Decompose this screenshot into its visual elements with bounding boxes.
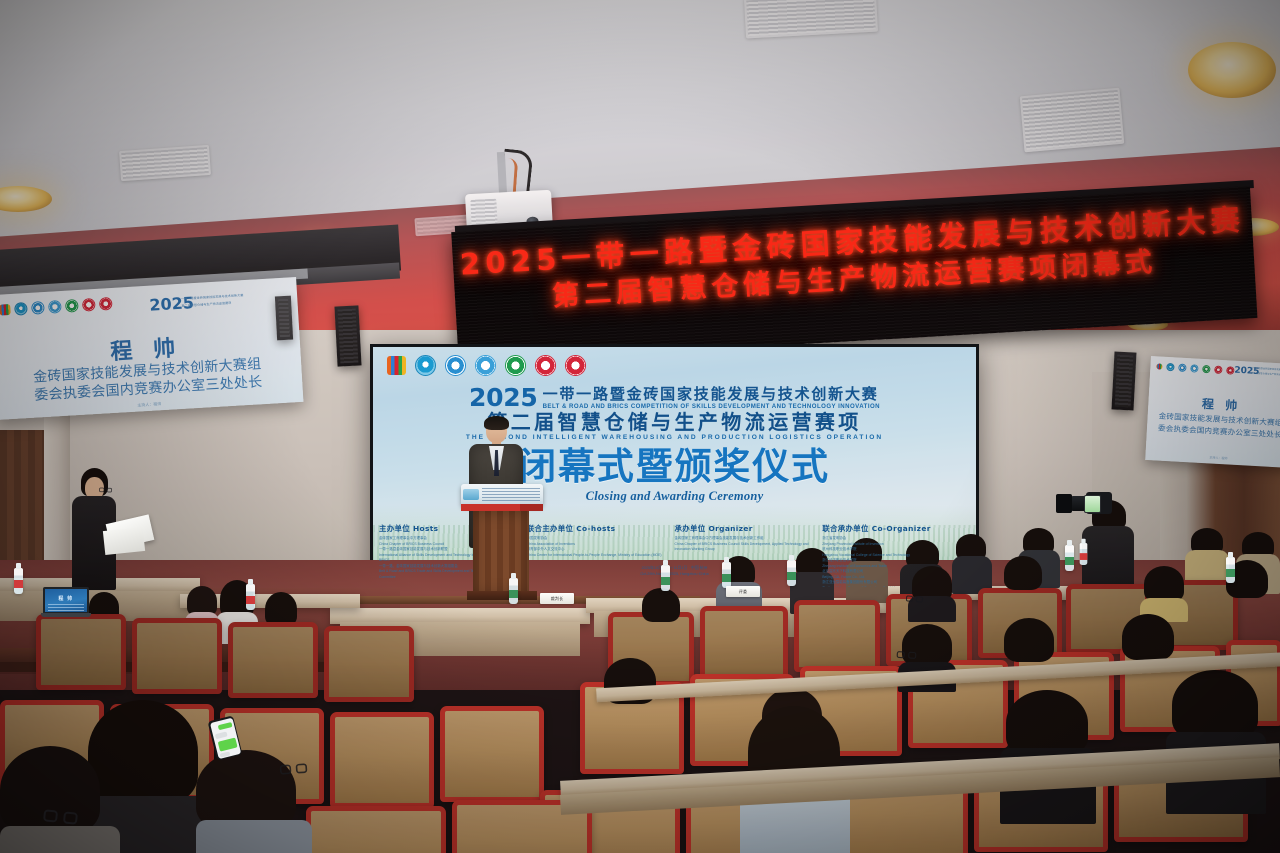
speaker-hair [484, 416, 509, 430]
audience-person [600, 658, 660, 710]
organizer-heading: 联合主办单位 Co-hosts [527, 523, 670, 534]
camera-flip-screen [1084, 495, 1101, 513]
name-card: 评委 [726, 586, 760, 597]
auditorium-seat[interactable] [700, 606, 788, 680]
right-screen-event-line-2: 第二届智慧仓储与生产物流运营赛项 [1251, 373, 1280, 378]
podium-red-band [461, 504, 543, 511]
camera-lens-hood [1056, 494, 1072, 513]
ceremony-title-cn: 闭幕式暨颁奖仪式 [373, 447, 976, 488]
podium-body [473, 511, 529, 596]
laptop: 程 帅 [43, 587, 89, 617]
person-hair [1144, 566, 1184, 602]
wall-speaker [275, 296, 293, 341]
audience-person [1140, 566, 1188, 610]
red-seal-logo-icon [535, 355, 556, 376]
main-projection-screen: 2025 一带一路暨金砖国家技能发展与技术创新大赛 BELT & ROAD AN… [370, 344, 979, 590]
person-hair [902, 624, 952, 666]
water-bottle [787, 560, 796, 586]
person-hair [1004, 556, 1042, 590]
alliance-logo-icon [14, 302, 28, 316]
attendant-glasses-icon [99, 488, 112, 493]
held-papers [103, 527, 145, 555]
brics-logo-icon [0, 304, 11, 316]
event-en-line-1: BELT & ROAD AND BRICS COMPETITION OF SKI… [543, 403, 880, 410]
skills-logo-icon [1190, 364, 1198, 372]
year-label: 2025 [469, 387, 538, 410]
person-glasses-icon [897, 651, 917, 659]
skills-logo-icon [48, 300, 62, 314]
laptop-screen-textlines [48, 604, 84, 612]
event-date-en: Oct.29th-Nov.1st 2025, Hangzhou·China [373, 571, 976, 577]
red-circle-logo-icon [99, 297, 113, 311]
air-vent-icon [119, 145, 211, 181]
water-bottle [246, 584, 255, 610]
main-screen-content: 2025 一带一路暨金砖国家技能发展与技术创新大赛 BELT & ROAD AN… [373, 347, 976, 587]
name-card-text: 裁判长 [540, 593, 574, 604]
wall-speaker [334, 305, 361, 366]
conference-hall-photo: 2025一带一路暨金砖国家技能发展与技术创新大赛 第二届智慧仓储与生产物流运营赛… [0, 0, 1280, 853]
right-screen-logo-row [1156, 362, 1234, 374]
chat-bubble [214, 731, 227, 739]
organizer-columns: 主办单位 Hosts 金砖国家工商理事会中方理事会 China Chapter … [373, 523, 976, 587]
brics-logo-icon [1156, 363, 1162, 369]
organizer-column: 承办单位 Organizer 金砖国家工商理事会中方理事会技能发展与技术创新工作… [675, 523, 823, 587]
chat-bubble [219, 751, 230, 757]
auditorium-seat[interactable] [306, 806, 446, 853]
wall-speaker [1111, 351, 1136, 410]
person-hair [1172, 670, 1258, 740]
podium-base [467, 591, 537, 600]
right-side-screen: 2025 一带一路暨金砖国家技能发展与技术创新大赛 第二届智慧仓储与生产物流运营… [1145, 356, 1280, 468]
laptop-base [41, 613, 91, 617]
person-hair [1006, 690, 1088, 756]
projector-power-cable [499, 157, 518, 194]
audience-person [1000, 618, 1058, 670]
water-bottle [1226, 557, 1235, 583]
name-card-text: 评委 [726, 586, 760, 597]
event-date-block: 2025年10月29日－11月1日 中国·杭州 Oct.29th-Nov.1st… [373, 565, 976, 577]
auditorium-seat[interactable] [440, 706, 544, 802]
event-en-line-2: THE SECOND INTELLIGENT WAREHOUSING AND P… [373, 434, 976, 441]
water-bottle [14, 568, 23, 594]
red-seal-logo-icon [1214, 366, 1222, 374]
water-bottle [1065, 545, 1074, 571]
podium-logo-icon [463, 489, 479, 500]
chat-bubble [217, 722, 232, 730]
green-seal-logo-icon [1202, 365, 1210, 373]
auditorium-seat[interactable] [330, 712, 434, 808]
ceiling-light [1188, 42, 1276, 98]
laptop-screen: 程 帅 [45, 589, 87, 612]
audience-person [638, 588, 684, 628]
left-side-screen: 2025 一带一路暨金砖国家技能发展与技术创新大赛 第二届智慧仓储与生产物流运营… [0, 277, 303, 420]
person-hair [642, 588, 680, 622]
podium-top-panel [461, 484, 543, 506]
projector-vent-icon [470, 199, 497, 226]
brics-logo-icon [387, 356, 406, 375]
organizer-column: 联合承办单位 Co-Organizer 浙江省发明协会 Zhejiang Pro… [822, 523, 970, 587]
globe-logo-icon [445, 355, 466, 376]
chat-bubble [217, 737, 237, 751]
globe-logo-icon [31, 301, 45, 315]
water-bottle [509, 578, 518, 604]
water-bottle [722, 562, 731, 588]
green-seal-logo-icon [65, 299, 79, 313]
water-bottle [1080, 543, 1088, 565]
auditorium-seat[interactable] [36, 614, 126, 690]
event-cn-line-1: 一带一路暨金砖国家技能发展与技术创新大赛 [543, 387, 880, 403]
air-vent-icon [1020, 88, 1125, 153]
sponsor-logo-row [387, 355, 586, 376]
auditorium-seat[interactable] [228, 622, 318, 698]
red-circle-logo-icon [565, 355, 586, 376]
audience-person-foreground [0, 746, 120, 853]
event-cn-line-2: 第二届智慧仓储与生产物流运营赛项 [373, 411, 976, 433]
alliance-logo-icon [415, 355, 436, 376]
person-hair [196, 750, 296, 830]
person-glasses-icon [906, 595, 923, 602]
person-hair [265, 592, 297, 626]
laptop-screen-name: 程 帅 [45, 595, 87, 602]
podium-text-strip [482, 488, 540, 501]
alliance-logo-icon [1166, 363, 1174, 371]
auditorium-seat[interactable] [132, 618, 222, 694]
globe-logo-icon [1178, 364, 1186, 372]
red-seal-logo-icon [82, 298, 96, 312]
audience-person-foreground [1166, 670, 1266, 810]
organizer-column: 联合主办单位 Co-hosts 中国发明协会 China Association… [527, 523, 675, 587]
left-screen-logo-row [0, 297, 113, 317]
organizer-heading: 联合承办单位 Co-Organizer [822, 523, 965, 534]
person-hair [1122, 614, 1174, 660]
title-row-1: 2025 一带一路暨金砖国家技能发展与技术创新大赛 BELT & ROAD AN… [373, 387, 976, 410]
green-seal-logo-icon [505, 355, 526, 376]
person-glasses-icon [280, 763, 308, 774]
skills-logo-icon [475, 355, 496, 376]
person-hair [1004, 618, 1054, 662]
water-bottle [661, 565, 670, 591]
organizer-heading: 承办单位 Organizer [675, 523, 818, 534]
organizer-body: 金砖国家工商理事会中方理事会技能发展与技术创新工作组 China Chapter… [675, 536, 818, 553]
organizer-body: 中国发明协会 China Association of Inventions 教… [527, 536, 670, 558]
laptop-lid: 程 帅 [43, 587, 89, 614]
auditorium-seat[interactable] [324, 626, 414, 702]
auditorium-seat[interactable] [794, 600, 880, 672]
person-body [196, 820, 312, 853]
organizer-body: 浙江省发明协会 Zhejiang Provincial Institute of… [822, 536, 965, 587]
name-card: 裁判长 [540, 593, 574, 604]
audience-person [1000, 556, 1046, 596]
person-body [0, 826, 120, 853]
podium [465, 484, 539, 596]
